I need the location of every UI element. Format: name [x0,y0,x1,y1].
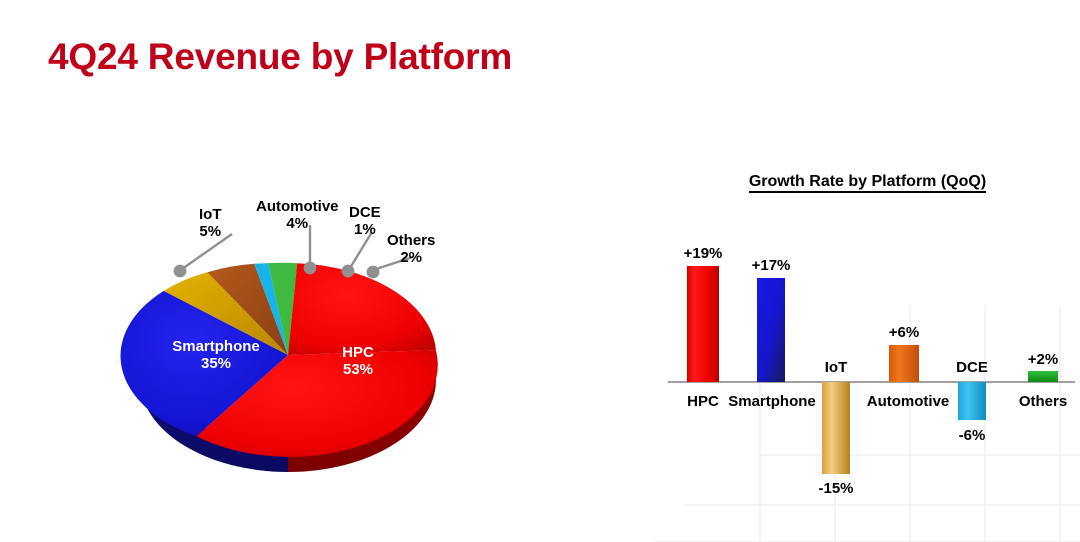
bar-value-dce: -6% [959,427,986,444]
bar-value-smartphone: +17% [752,257,791,274]
bar-value-automotive: +6% [889,324,919,341]
bar-chart-graphic: +19% HPC +17% Smartphone IoT -15% +6% Au… [655,155,1080,542]
pie-callout-automotive-label: Automotive [256,199,339,216]
bar-label-dce: DCE [956,359,988,376]
bar-label-others: Others [1019,393,1067,410]
bar-label-hpc: HPC [687,393,719,410]
pie-callout-iot-value: 5% [199,224,222,241]
pie-callout-others-value: 2% [387,250,435,267]
pie-callout-others: Others 2% [387,233,435,267]
pie-value-smartphone: 35% [201,355,231,372]
pie-callout-iot: IoT 5% [199,207,222,241]
pie-label-hpc: HPC [342,344,374,361]
growth-rate-bar-chart: Growth Rate by Platform (QoQ) [655,155,1080,542]
bar-value-hpc: +19% [684,245,723,262]
bar-value-others: +2% [1028,351,1058,368]
bar-dce [958,382,986,420]
pie-callout-automotive-value: 4% [256,216,339,233]
pie-callout-others-label: Others [387,233,435,250]
bar-others [1028,371,1058,382]
pie-slice-hpc-upper [288,263,436,355]
bar-iot [822,382,850,474]
pie-value-hpc: 53% [343,361,373,378]
revenue-pie-chart: Smartphone 35% HPC 53% IoT 5% Automotive… [110,185,490,505]
pie-callout-dce: DCE 1% [349,205,381,239]
pie-callout-automotive: Automotive 4% [256,199,339,233]
bar-smartphone [757,278,785,382]
bar-label-automotive: Automotive [867,393,950,410]
page-title: 4Q24 Revenue by Platform [48,36,512,78]
pie-callout-dce-label: DCE [349,205,381,222]
pie-callout-iot-label: IoT [199,207,222,224]
pie-label-smartphone: Smartphone [172,338,260,355]
bar-label-smartphone: Smartphone [728,393,816,410]
bar-value-iot: -15% [818,480,853,497]
bar-automotive [889,345,919,382]
bar-hpc [687,266,719,382]
pie-callout-dce-value: 1% [349,222,381,239]
bar-label-iot: IoT [825,359,848,376]
